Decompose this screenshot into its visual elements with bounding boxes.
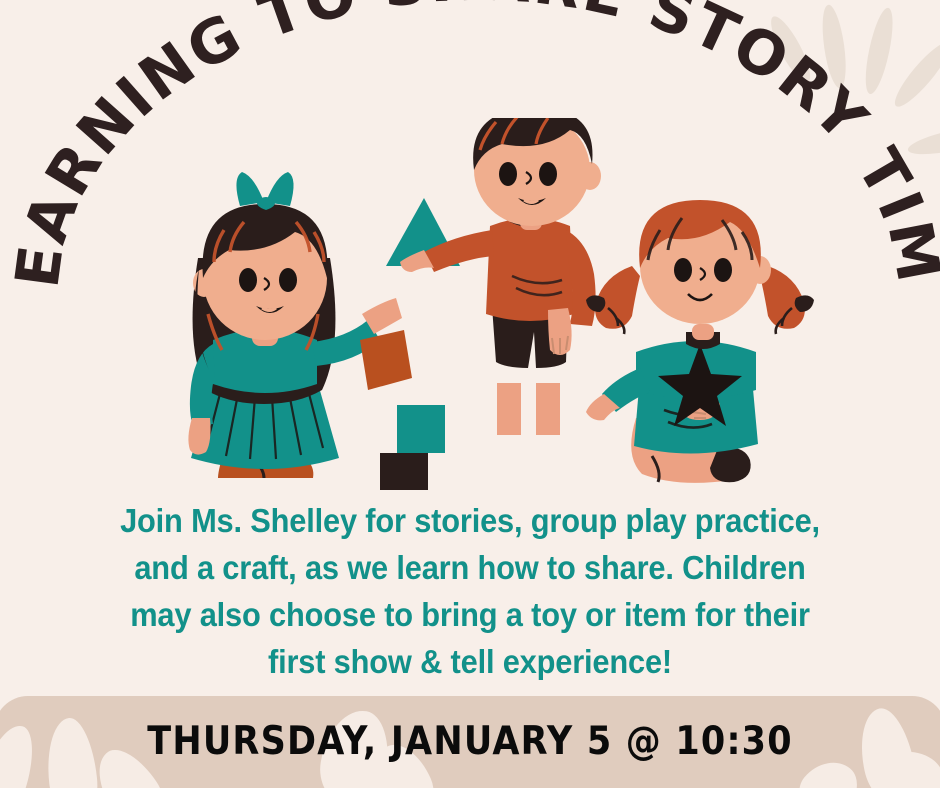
fan-petal-3	[860, 6, 898, 96]
figure-boy-standing-center	[400, 118, 601, 435]
block-square-rust-held	[360, 330, 412, 390]
body-line-1: Join Ms. Shelley for stories, group play…	[73, 498, 868, 545]
figure-girl-standing-left	[188, 172, 402, 478]
poster-canvas: LEARNING TO SHARE STORY TIME	[0, 0, 940, 788]
figure-girl-kneeling-right	[586, 200, 814, 483]
block-square-dark-mid	[380, 453, 428, 490]
block-square-teal-top	[397, 405, 445, 453]
body-line-4: first show & tell experience!	[73, 639, 868, 686]
illustration-children-blocks	[0, 118, 940, 490]
body-copy: Join Ms. Shelley for stories, group play…	[73, 498, 868, 686]
fan-petal-4	[888, 37, 940, 113]
fan-petal-1	[764, 12, 816, 87]
body-line-2: and a craft, as we learn how to share. C…	[73, 545, 868, 592]
fan-petal-2	[818, 3, 849, 89]
body-line-3: may also choose to bring a toy or item f…	[73, 592, 868, 639]
event-date-line: THURSDAY, JANUARY 5 @ 10:30	[0, 719, 940, 764]
